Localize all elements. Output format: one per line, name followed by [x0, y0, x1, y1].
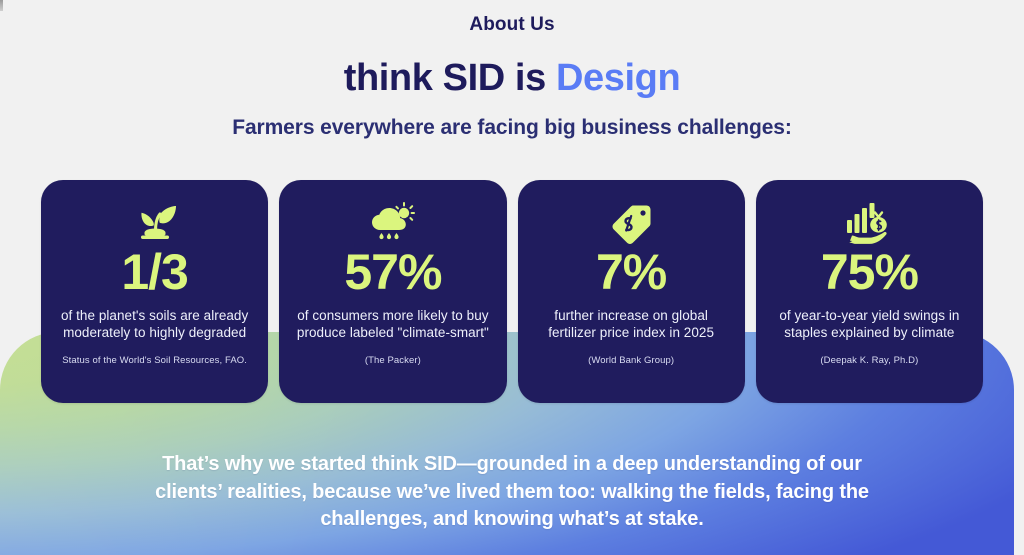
stat-description: of the planet's soils are already modera…	[55, 307, 254, 341]
sun-rain-cloud-icon	[368, 202, 418, 246]
scrollbar-artifact	[0, 0, 3, 11]
stat-card-list: 1/3 of the planet's soils are already mo…	[0, 180, 1024, 403]
closing-statement: That’s why we started think SID—grounded…	[0, 451, 1024, 534]
price-tag-dollar-icon	[609, 202, 653, 246]
about-us-section: About Us think SID is Design Farmers eve…	[0, 0, 1024, 555]
stat-value: 57%	[344, 244, 441, 300]
stat-source: (World Bank Group)	[588, 354, 674, 367]
stat-card: 57% of consumers more likely to buy prod…	[279, 180, 506, 403]
section-header: About Us think SID is Design Farmers eve…	[0, 0, 1024, 142]
eyebrow-label: About Us	[0, 12, 1024, 38]
headline-accent: Design	[556, 57, 680, 99]
stat-card: 7% further increase on global fertilizer…	[518, 180, 745, 403]
stat-value: 75%	[821, 244, 918, 300]
stat-source: (The Packer)	[365, 354, 421, 367]
stat-value: 7%	[596, 244, 666, 300]
stat-source: (Deepak K. Ray, Ph.D)	[820, 354, 918, 367]
headline-prefix: think SID is	[344, 57, 556, 99]
section-subheading: Farmers everywhere are facing big busine…	[0, 114, 1024, 142]
stat-value: 1/3	[121, 244, 188, 300]
stat-description: further increase on global fertilizer pr…	[532, 307, 731, 341]
stat-description: of year-to-year yield swings in staples …	[770, 307, 969, 341]
stat-source: Status of the World's Soil Resources, FA…	[62, 354, 247, 367]
hand-money-bag-chart-icon	[844, 202, 894, 246]
stat-description: of consumers more likely to buy produce …	[293, 307, 492, 341]
page-title: think SID is Design	[0, 56, 1024, 100]
seedling-icon	[132, 202, 178, 246]
stat-card: 1/3 of the planet's soils are already mo…	[41, 180, 268, 403]
stat-card: 75% of year-to-year yield swings in stap…	[756, 180, 983, 403]
